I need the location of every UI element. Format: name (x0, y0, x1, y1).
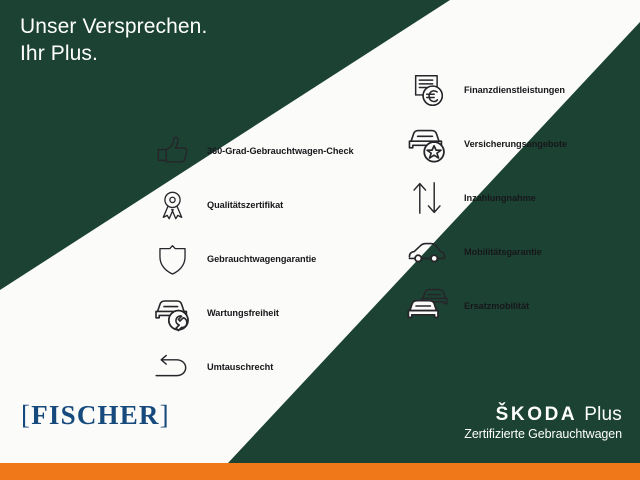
shield-icon (143, 234, 201, 284)
headline: Unser Versprechen. Ihr Plus. (20, 14, 207, 68)
award-rosette-icon (143, 180, 201, 230)
feature-label: Qualitätszertifikat (207, 200, 283, 210)
skoda-wordmark: ŠKODA (496, 404, 578, 426)
feature-item: 360-Grad-Gebrauchtwagen-Check (143, 124, 354, 178)
feature-item: Wartungsfreiheit (143, 286, 354, 340)
promo-banner: Unser Versprechen. Ihr Plus. 360-Grad-Ge… (0, 0, 640, 480)
car-star-icon (398, 119, 456, 169)
car-wrench-icon (143, 288, 201, 338)
feature-item: Inzahlungnahme (398, 171, 567, 225)
feature-label: Finanzdienstleistungen (464, 85, 565, 95)
feature-label: Wartungsfreiheit (207, 308, 279, 318)
feature-list-right: Finanzdienstleistungen Versicherungsange… (398, 63, 567, 333)
two-cars-icon (398, 281, 456, 331)
feature-label: Inzahlungnahme (464, 193, 536, 203)
skoda-plus-suffix: Plus (584, 404, 622, 426)
headline-line-2: Ihr Plus. (20, 41, 207, 68)
feature-item: Ersatzmobilität (398, 279, 567, 333)
brand-logo-row: ŠKODA Plus (464, 404, 622, 426)
feature-item: Umtauschrecht (143, 340, 354, 394)
feature-label: 360-Grad-Gebrauchtwagen-Check (207, 146, 354, 156)
brand-logo-tagline: Zertifizierte Gebrauchtwagen (464, 427, 622, 441)
feature-label: Mobilitätsgarantie (464, 247, 542, 257)
headline-line-1: Unser Versprechen. (20, 14, 207, 41)
feature-item: Finanzdienstleistungen (398, 63, 567, 117)
feature-list-left: 360-Grad-Gebrauchtwagen-Check Qualitätsz… (143, 124, 354, 394)
feature-item: Mobilitätsgarantie (398, 225, 567, 279)
dealer-logo-bracket-open: [ (21, 400, 31, 430)
document-euro-icon (398, 65, 456, 115)
dealer-logo-name: FISCHER (31, 400, 159, 430)
feature-item: Qualitätszertifikat (143, 178, 354, 232)
car-side-icon (398, 227, 456, 277)
return-arrow-icon (143, 342, 201, 392)
up-down-arrows-icon (398, 173, 456, 223)
thumbs-up-icon (143, 126, 201, 176)
feature-label: Versicherungsangebote (464, 139, 567, 149)
feature-label: Ersatzmobilität (464, 301, 529, 311)
orange-bottom-bar (0, 463, 640, 480)
feature-label: Umtauschrecht (207, 362, 273, 372)
dealer-logo-bracket-close: ] (160, 400, 170, 430)
feature-label: Gebrauchtwagengarantie (207, 254, 316, 264)
brand-logo: ŠKODA Plus Zertifizierte Gebrauchtwagen (464, 404, 622, 441)
dealer-logo: [FISCHER] (21, 400, 170, 431)
feature-item: Versicherungsangebote (398, 117, 567, 171)
feature-item: Gebrauchtwagengarantie (143, 232, 354, 286)
